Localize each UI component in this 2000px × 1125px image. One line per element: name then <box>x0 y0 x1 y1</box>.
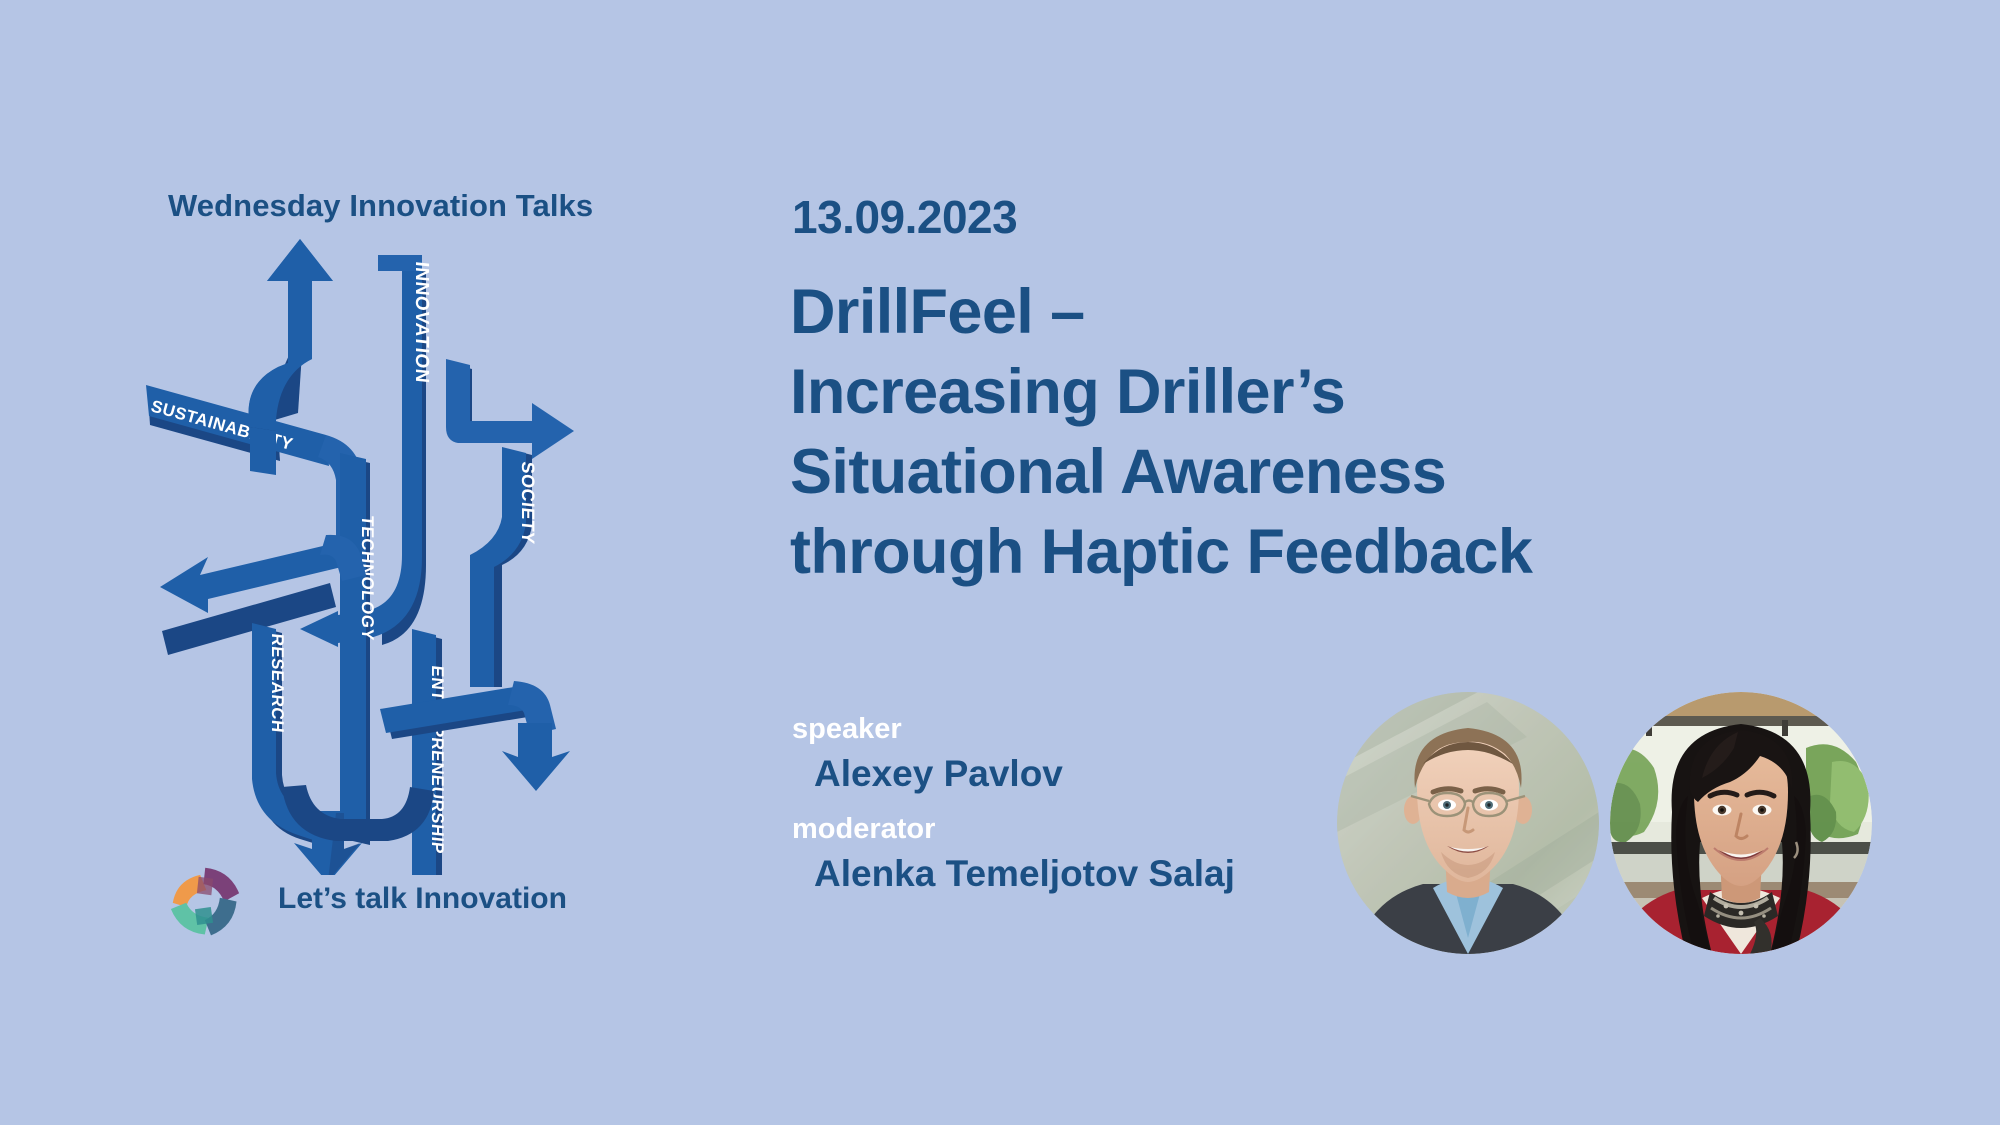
series-heading: Wednesday Innovation Talks <box>168 188 593 224</box>
event-announcement-poster: Wednesday Innovation Talks .rib { fill:#… <box>0 0 2000 1125</box>
title-line-4: through Haptic Feedback <box>790 512 1890 592</box>
right-content-column: 13.09.2023 DrillFeel – Increasing Drille… <box>780 0 2000 1125</box>
title-line-1: DrillFeel – <box>790 272 1890 352</box>
moderator-portrait <box>1610 692 1872 954</box>
event-date: 13.09.2023 <box>792 190 1017 244</box>
pinwheel-logo <box>160 858 248 942</box>
diagram-label-innovation: INNOVATION <box>411 260 432 384</box>
innovation-arrows-diagram: .rib { fill:#1f5fa8; } .rib2 { fill:#246… <box>130 235 630 875</box>
arrow-society <box>446 359 574 687</box>
arrow-right-lower <box>380 681 570 791</box>
arrow-right-mid <box>534 625 630 705</box>
title-line-3: Situational Awareness <box>790 432 1890 512</box>
diagram-label-society: SOCIETY <box>518 461 538 546</box>
diagram-label-research: RESEARCH <box>268 633 287 734</box>
diagram-label-entrepreneurship: ENTREPRENEURSHIP <box>428 665 447 855</box>
diagram-label-technology: TECHNOLOGY <box>358 515 377 642</box>
speaker-portrait <box>1337 692 1599 954</box>
event-title: DrillFeel – Increasing Driller’s Situati… <box>790 272 1890 592</box>
arrow-technology <box>340 453 370 845</box>
left-branding-column: Wednesday Innovation Talks .rib { fill:#… <box>0 0 760 1125</box>
brand-tagline: Let’s talk Innovation <box>278 882 567 916</box>
title-line-2: Increasing Driller’s <box>790 352 1890 432</box>
brand-lockup: Let’s talk Innovation <box>160 858 640 938</box>
